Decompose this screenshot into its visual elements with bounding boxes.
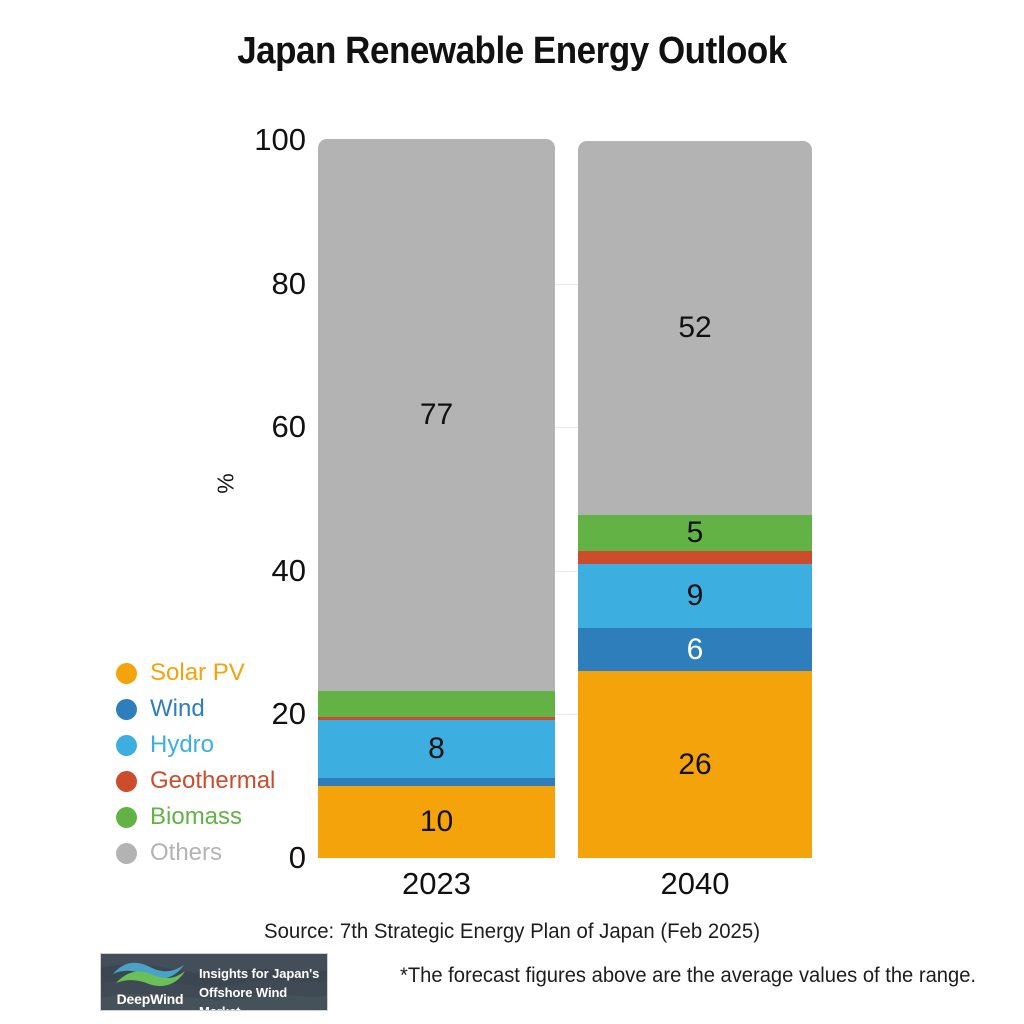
bar-segment-solar-pv-2023[interactable]: 10 bbox=[318, 786, 555, 858]
bar-value-label: 26 bbox=[678, 750, 711, 780]
logo-wordmark: DeepWind bbox=[109, 991, 191, 1007]
bar-segment-biomass-2040[interactable]: 5 bbox=[578, 515, 812, 551]
bar-stack-2023[interactable]: 10877 bbox=[318, 139, 555, 858]
logo-tagline-line1: Insights for Japan's bbox=[199, 965, 327, 984]
legend-item-others[interactable]: Others bbox=[116, 835, 326, 871]
source-note: Source: 7th Strategic Energy Plan of Jap… bbox=[15, 920, 1008, 944]
page-title: Japan Renewable Energy Outlook bbox=[41, 30, 983, 73]
bar-segment-solar-pv-2040[interactable]: 26 bbox=[578, 671, 812, 858]
legend-label: Others bbox=[150, 841, 222, 865]
legend-item-hydro[interactable]: Hydro bbox=[116, 727, 326, 763]
bar-segment-wind-2023[interactable] bbox=[318, 778, 555, 787]
plot-area: 10877 2669552 bbox=[318, 140, 812, 858]
legend: Solar PVWindHydroGeothermalBiomassOthers bbox=[116, 655, 326, 871]
legend-swatch-icon bbox=[116, 663, 137, 684]
bar-value-label: 5 bbox=[687, 518, 704, 548]
y-tick-40: 40 bbox=[236, 553, 306, 589]
deepwind-logo[interactable]: DeepWind Insights for Japan's Offshore W… bbox=[100, 953, 328, 1011]
x-axis-label-2040: 2040 bbox=[578, 866, 812, 902]
bar-segment-wind-2040[interactable]: 6 bbox=[578, 628, 812, 671]
bar-stack-2040[interactable]: 2669552 bbox=[578, 141, 812, 858]
legend-item-geothermal[interactable]: Geothermal bbox=[116, 763, 326, 799]
legend-label: Hydro bbox=[150, 733, 214, 757]
logo-tagline: Insights for Japan's Offshore Wind Marke… bbox=[199, 965, 327, 1011]
bar-segment-hydro-2040[interactable]: 9 bbox=[578, 564, 812, 629]
bar-segment-others-2023[interactable]: 77 bbox=[318, 139, 555, 692]
legend-swatch-icon bbox=[116, 699, 137, 720]
bar-value-label: 77 bbox=[420, 400, 453, 430]
bar-value-label: 9 bbox=[687, 581, 704, 611]
legend-label: Biomass bbox=[150, 805, 242, 829]
legend-item-biomass[interactable]: Biomass bbox=[116, 799, 326, 835]
legend-swatch-icon bbox=[116, 735, 137, 756]
legend-swatch-icon bbox=[116, 843, 137, 864]
bar-value-label: 10 bbox=[420, 807, 453, 837]
y-tick-80: 80 bbox=[236, 266, 306, 302]
bar-value-label: 6 bbox=[687, 635, 704, 665]
y-tick-60: 60 bbox=[236, 409, 306, 445]
y-tick-100: 100 bbox=[236, 122, 306, 158]
bar-segment-hydro-2023[interactable]: 8 bbox=[318, 720, 555, 777]
logo-tagline-line2: Offshore Wind Market bbox=[199, 984, 327, 1011]
bar-segment-others-2040[interactable]: 52 bbox=[578, 141, 812, 514]
bar-value-label: 52 bbox=[678, 313, 711, 343]
wave-logo-icon bbox=[110, 958, 188, 991]
forecast-note: *The forecast figures above are the aver… bbox=[400, 964, 976, 988]
x-axis-label-2023: 2023 bbox=[318, 866, 555, 902]
bar-segment-geothermal-2040[interactable] bbox=[578, 551, 812, 564]
bar-value-label: 8 bbox=[428, 734, 445, 764]
legend-item-wind[interactable]: Wind bbox=[116, 691, 326, 727]
bar-segment-biomass-2023[interactable] bbox=[318, 691, 555, 717]
legend-swatch-icon bbox=[116, 807, 137, 828]
legend-item-solar-pv[interactable]: Solar PV bbox=[116, 655, 326, 691]
legend-swatch-icon bbox=[116, 771, 137, 792]
legend-label: Geothermal bbox=[150, 769, 275, 793]
legend-label: Solar PV bbox=[150, 661, 245, 685]
legend-label: Wind bbox=[150, 697, 205, 721]
